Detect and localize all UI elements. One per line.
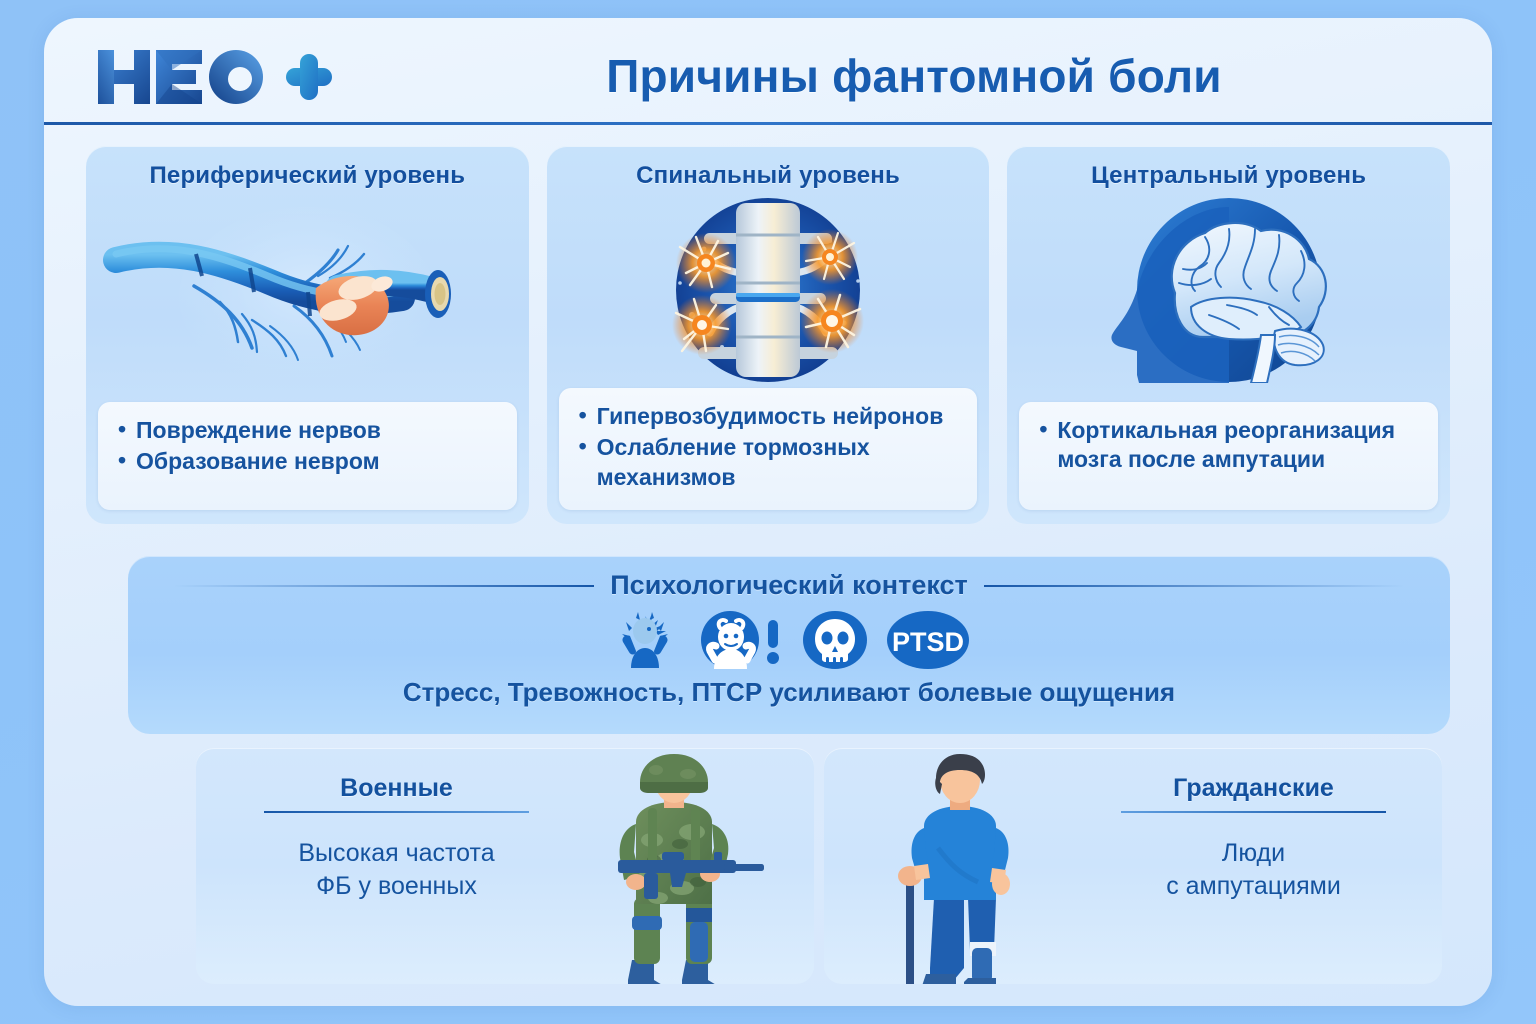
audience-text-military-line2: ФБ у военных — [264, 870, 529, 903]
anxiety-person-exclamation-icon — [700, 610, 784, 670]
psychological-context-caption: Стресс, Тревожность, ПТСР усиливают боле… — [128, 677, 1450, 708]
audience-text-military-line1: Высокая частота — [264, 837, 529, 870]
audience-panel-civilian[interactable]: Гражданские Люди с ампутациями — [824, 748, 1442, 984]
psychological-context-heading: Психологический контекст — [610, 570, 967, 601]
list-item: Ослабление тормозных механизмов — [575, 433, 962, 492]
page-title: Причины фантомной боли — [384, 40, 1444, 112]
audience-text-civilian-line1: Люди — [1121, 837, 1386, 870]
bullet-list-peripheral: Повреждение нервов Образование невром — [98, 402, 517, 510]
bullet-list-central: Кортикальная реорганизация мозга после а… — [1019, 402, 1438, 510]
header: Причины фантомной боли — [44, 18, 1492, 123]
audience-heading-military: Военные — [264, 774, 529, 803]
ptsd-badge-icon: PTSD — [886, 610, 970, 670]
level-card-spinal[interactable]: Спинальный уровень — [547, 146, 990, 524]
list-item: Кортикальная реорганизация мозга после а… — [1035, 416, 1422, 475]
skull-icon — [802, 610, 868, 670]
heading-underline — [1121, 811, 1386, 813]
bullet-list-spinal: Гипервозбудимость нейронов Ослабление то… — [559, 388, 978, 510]
brain-head-silhouette-illustration — [1019, 196, 1438, 384]
neo-plus-logo — [94, 46, 344, 108]
audiences-row: Военные Высокая частота ФБ у военных — [196, 748, 1442, 984]
civilian-text-block: Гражданские Люди с ампутациями — [1121, 774, 1386, 902]
spinal-cord-neurons-illustration — [559, 196, 978, 384]
level-card-central[interactable]: Центральный уровень — [1007, 146, 1450, 524]
heading-underline — [264, 811, 529, 813]
header-divider — [44, 122, 1492, 125]
psychological-icons-row: PTSD — [128, 609, 1450, 671]
audience-text-civilian-line2: с ампутациями — [1121, 870, 1386, 903]
military-text-block: Военные Высокая частота ФБ у военных — [264, 774, 529, 902]
soldier-with-prosthetic-leg-illustration — [574, 748, 774, 984]
level-heading-central: Центральный уровень — [1019, 162, 1438, 190]
civilian-with-cane-and-prosthetic-leg-illustration — [868, 748, 1048, 984]
audience-heading-civilian: Гражданские — [1121, 774, 1386, 803]
level-heading-spinal: Спинальный уровень — [559, 162, 978, 190]
level-heading-peripheral: Периферический уровень — [98, 162, 517, 190]
divider-left — [174, 585, 594, 587]
psychological-context-panel: Психологический контекст — [128, 556, 1450, 734]
levels-row: Периферический уровень — [86, 146, 1450, 524]
damaged-nerve-neuroma-illustration — [98, 196, 517, 384]
list-item: Гипервозбудимость нейронов — [575, 402, 962, 431]
list-item: Образование невром — [114, 447, 501, 476]
list-item: Повреждение нервов — [114, 416, 501, 445]
ptsd-label: PTSD — [892, 627, 964, 657]
infographic-poster: Причины фантомной боли Периферический ур… — [44, 18, 1492, 1006]
level-card-peripheral[interactable]: Периферический уровень — [86, 146, 529, 524]
audience-panel-military[interactable]: Военные Высокая частота ФБ у военных — [196, 748, 814, 984]
divider-right — [984, 585, 1404, 587]
psychological-context-header: Психологический контекст — [128, 570, 1450, 601]
stress-person-icon — [608, 610, 682, 670]
